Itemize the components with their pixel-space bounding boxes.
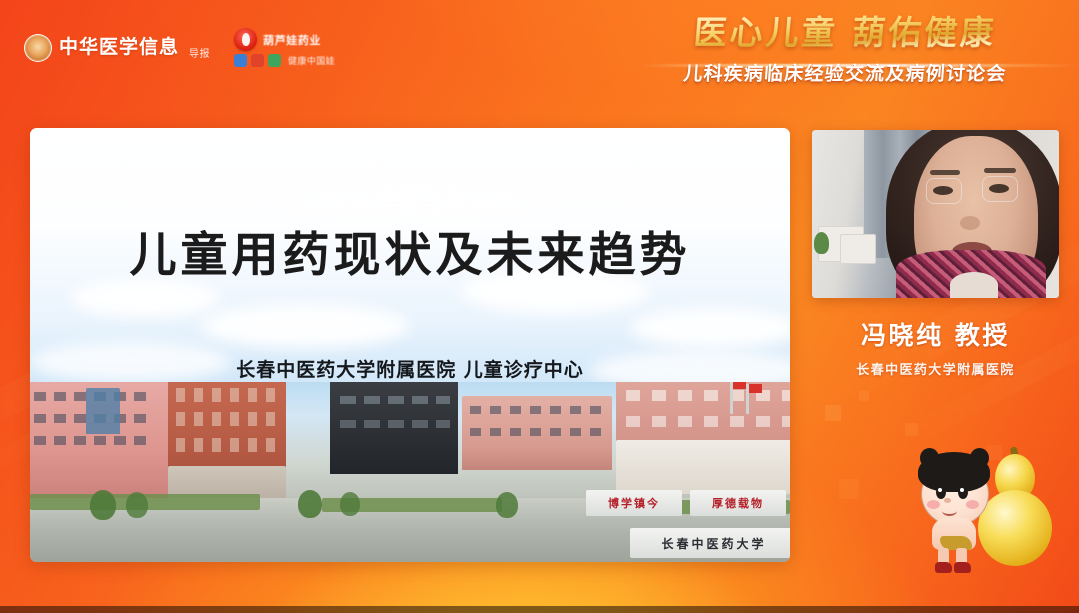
- event-banner: 医心儿童 葫佑健康 儿科疾病临床经验交流及病例讨论会: [635, 14, 1055, 86]
- event-subtitle: 儿科疾病临床经验交流及病例讨论会: [634, 59, 1056, 86]
- speaker-name: 冯晓纯 教授: [812, 316, 1059, 352]
- speaker-eye-left: [933, 186, 953, 195]
- campus-sign-mid: 厚德载物: [690, 490, 786, 516]
- broadcast-screen: 中华医学信息 导报 葫芦娃药业 健康中国娃 医心儿童 葫佑健康 儿科疾病临床经验…: [0, 0, 1079, 613]
- speaker-brow-right: [984, 168, 1016, 173]
- pharma-tile-red-icon: [251, 54, 264, 67]
- pharma-tile-blue-icon: [234, 54, 247, 67]
- pharma-badge-icon: [234, 28, 257, 51]
- video-cabinet-2: [840, 234, 876, 264]
- speaker-eye-right: [989, 184, 1009, 193]
- slide-campus-photo: 博学镇今 厚德载物 长春中医药大学: [30, 382, 790, 562]
- speaker-video-feed[interactable]: [812, 130, 1059, 298]
- screen-bottom-edge: [0, 606, 1079, 613]
- logo-pharma: 葫芦娃药业 健康中国娃: [234, 28, 335, 67]
- pharma-wordmark: 葫芦娃药业: [263, 32, 321, 48]
- logo-cma: 中华医学信息 导报: [24, 34, 210, 62]
- campus-sign-right: 长春中医药大学: [630, 528, 790, 558]
- speaker-organization: 长春中医药大学附属医院: [812, 359, 1059, 378]
- speaker-collar: [950, 272, 998, 298]
- slide-title: 儿童用药现状及未来趋势: [30, 216, 790, 285]
- video-plant: [814, 232, 829, 254]
- cma-seal-icon: [24, 34, 52, 62]
- presentation-slide[interactable]: 儿童用药现状及未来趋势 长春中医药大学附属医院 儿童诊疗中心 长春中医药大学附属…: [30, 128, 790, 562]
- header-logos: 中华医学信息 导报 葫芦娃药业 健康中国娃: [24, 28, 335, 67]
- speaker-nose: [960, 216, 980, 230]
- pharma-tile-green-icon: [268, 54, 281, 67]
- event-title: 医心儿童 葫佑健康: [633, 14, 1056, 52]
- campus-sign-left: 博学镇今: [586, 490, 682, 516]
- cma-wordmark-suffix: 导报: [189, 45, 210, 62]
- mascot-boy: [914, 448, 1002, 572]
- speaker-caption: 冯晓纯 教授 长春中医药大学附属医院: [812, 316, 1059, 378]
- speaker-brow-left: [930, 170, 960, 175]
- calabash-boy-mascot: [914, 438, 1064, 576]
- cma-wordmark: 中华医学信息: [59, 38, 179, 57]
- slide-affiliation-line1: 长春中医药大学附属医院 儿童诊疗中心: [30, 356, 790, 385]
- pharma-tagline: 健康中国娃: [288, 54, 335, 67]
